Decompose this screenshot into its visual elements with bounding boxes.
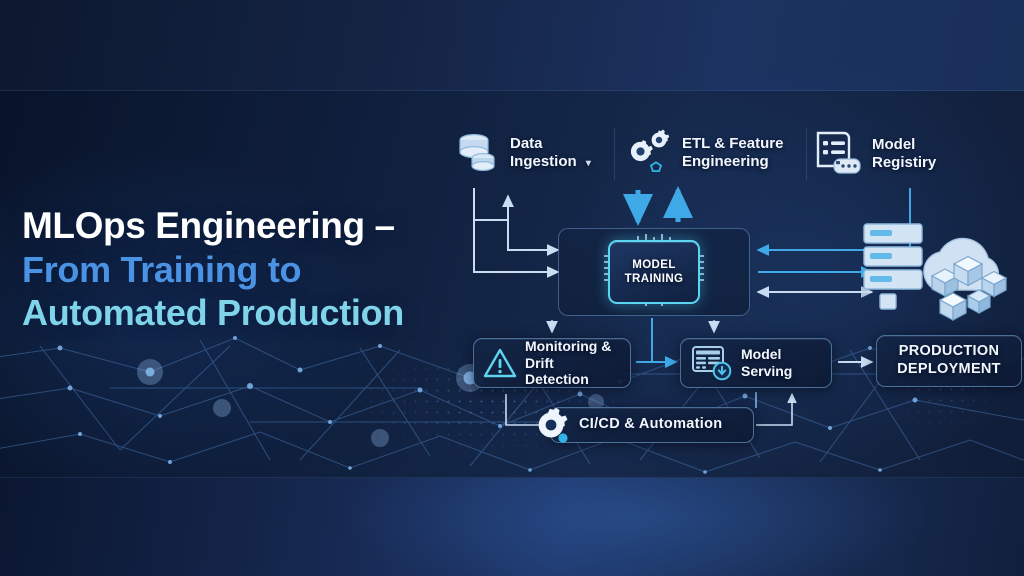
node-etl-feature-engineering[interactable]: ETL & Feature Engineering — [616, 125, 812, 181]
gears-icon — [620, 128, 674, 178]
model-training-chip: MODEL TRAINING — [608, 240, 700, 304]
node-label-model-registry: Model Registiry — [872, 136, 936, 171]
node-cicd-automation[interactable]: CI/CD & Automation — [550, 407, 754, 443]
registry-document-icon — [812, 129, 864, 179]
node-monitoring-drift-detection[interactable]: Monitoring & Drift Detection — [473, 338, 631, 388]
mlops-pipeline-diagram: Data Ingestion ▾ — [440, 100, 1024, 480]
gear-icon — [532, 403, 576, 447]
title-line-1: MLOps Engineering – — [22, 205, 442, 248]
node-label-model-serving: Model Serving — [741, 346, 792, 379]
cloud-servers-cubes-icon — [858, 218, 1024, 330]
slide-canvas: MLOps Engineering – From Training to Aut… — [0, 0, 1024, 576]
title-line-2: From Training to — [22, 248, 442, 291]
background-bottom-band — [0, 478, 1024, 576]
node-model-serving[interactable]: Model Serving — [680, 338, 832, 388]
node-model-registry[interactable]: Model Registiry — [808, 125, 1014, 183]
warning-triangle-icon — [483, 347, 517, 379]
database-stack-icon — [456, 131, 502, 175]
node-label-etl: ETL & Feature Engineering — [682, 135, 783, 170]
server-deploy-icon — [691, 344, 733, 382]
node-data-ingestion[interactable]: Data Ingestion ▾ — [452, 125, 624, 181]
node-production-deployment[interactable]: PRODUCTION DEPLOYMENT — [876, 335, 1022, 387]
node-label-production-deployment: PRODUCTION DEPLOYMENT — [897, 343, 1001, 378]
node-model-training[interactable]: MODEL TRAINING — [585, 238, 723, 306]
node-label-data-ingestion: Data Ingestion ▾ — [510, 135, 591, 170]
node-label-cicd: CI/CD & Automation — [579, 416, 722, 433]
node-label-monitoring: Monitoring & Drift Detection — [525, 338, 621, 388]
chevron-down-icon[interactable]: ▾ — [586, 158, 591, 169]
hero-title-block: MLOps Engineering – From Training to Aut… — [22, 205, 442, 334]
title-line-3: Automated Production — [22, 291, 442, 334]
